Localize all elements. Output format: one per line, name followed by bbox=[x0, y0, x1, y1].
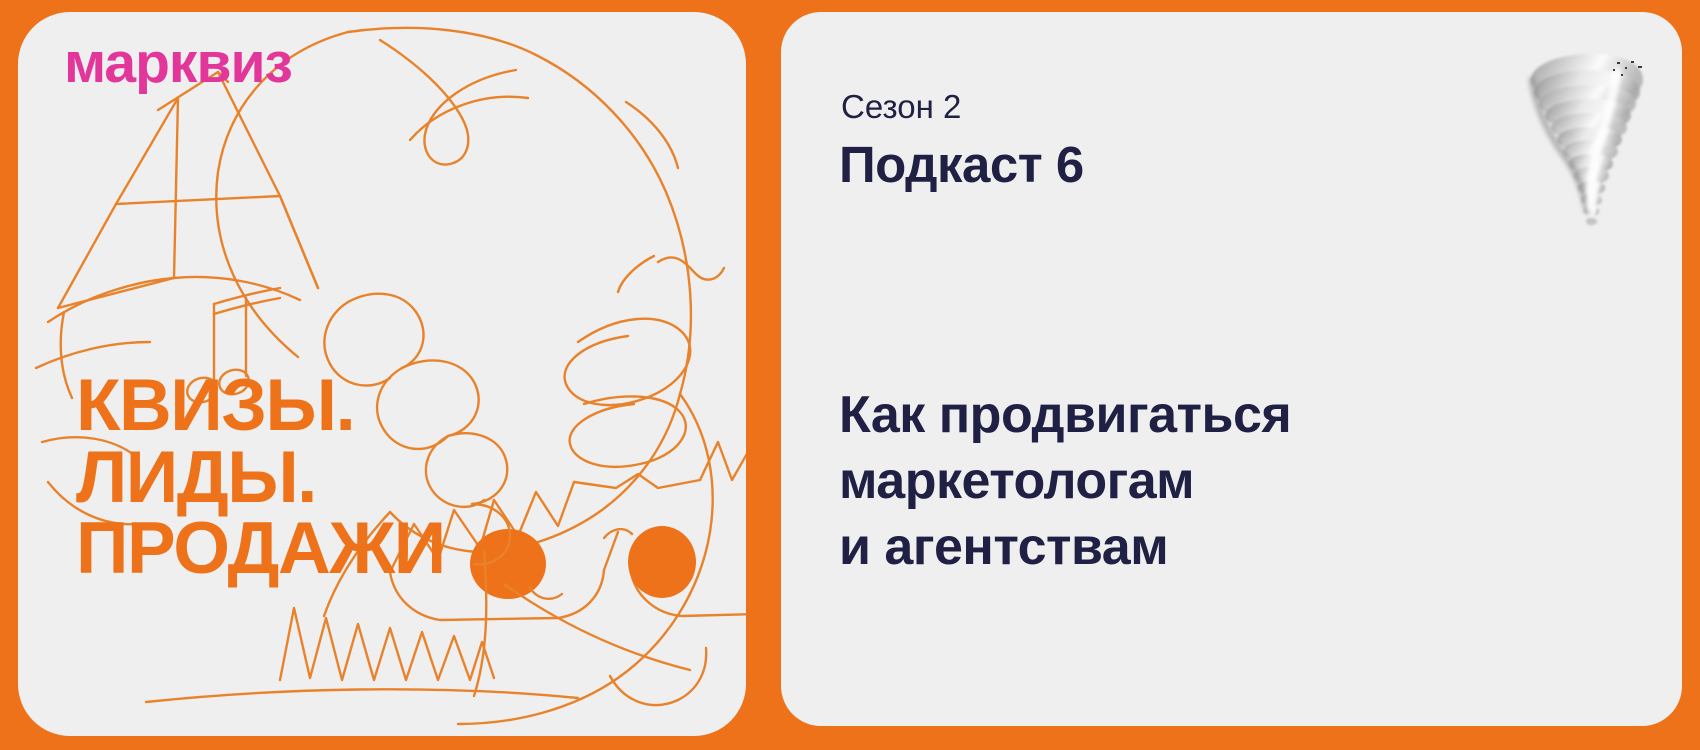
season-label: Сезон 2 bbox=[841, 88, 961, 126]
markviz-logo: марквиз bbox=[64, 35, 292, 92]
episode-title-line-2: маркетологам bbox=[839, 448, 1291, 514]
tagline-line-2: ЛИДЫ. bbox=[76, 442, 445, 514]
podcast-cover-poster: марквиз КВИЗЫ. ЛИДЫ. продажи Сезон 2 Под… bbox=[0, 0, 1700, 750]
episode-title-line-3: и агентствам bbox=[839, 514, 1291, 580]
podcast-number: Подкаст 6 bbox=[839, 135, 1084, 194]
tornado-icon bbox=[1521, 50, 1649, 240]
episode-title: Как продвигаться маркетологам и агентств… bbox=[839, 382, 1291, 580]
episode-title-line-1: Как продвигаться bbox=[839, 382, 1291, 448]
left-branding-card: марквиз КВИЗЫ. ЛИДЫ. продажи bbox=[18, 12, 746, 736]
right-episode-card: Сезон 2 Подкаст 6 Как продвигаться марке… bbox=[781, 12, 1682, 726]
tagline: КВИЗЫ. ЛИДЫ. продажи bbox=[76, 370, 445, 585]
tagline-line-1: КВИЗЫ. bbox=[76, 370, 445, 442]
tagline-line-3: продажи bbox=[76, 513, 445, 585]
